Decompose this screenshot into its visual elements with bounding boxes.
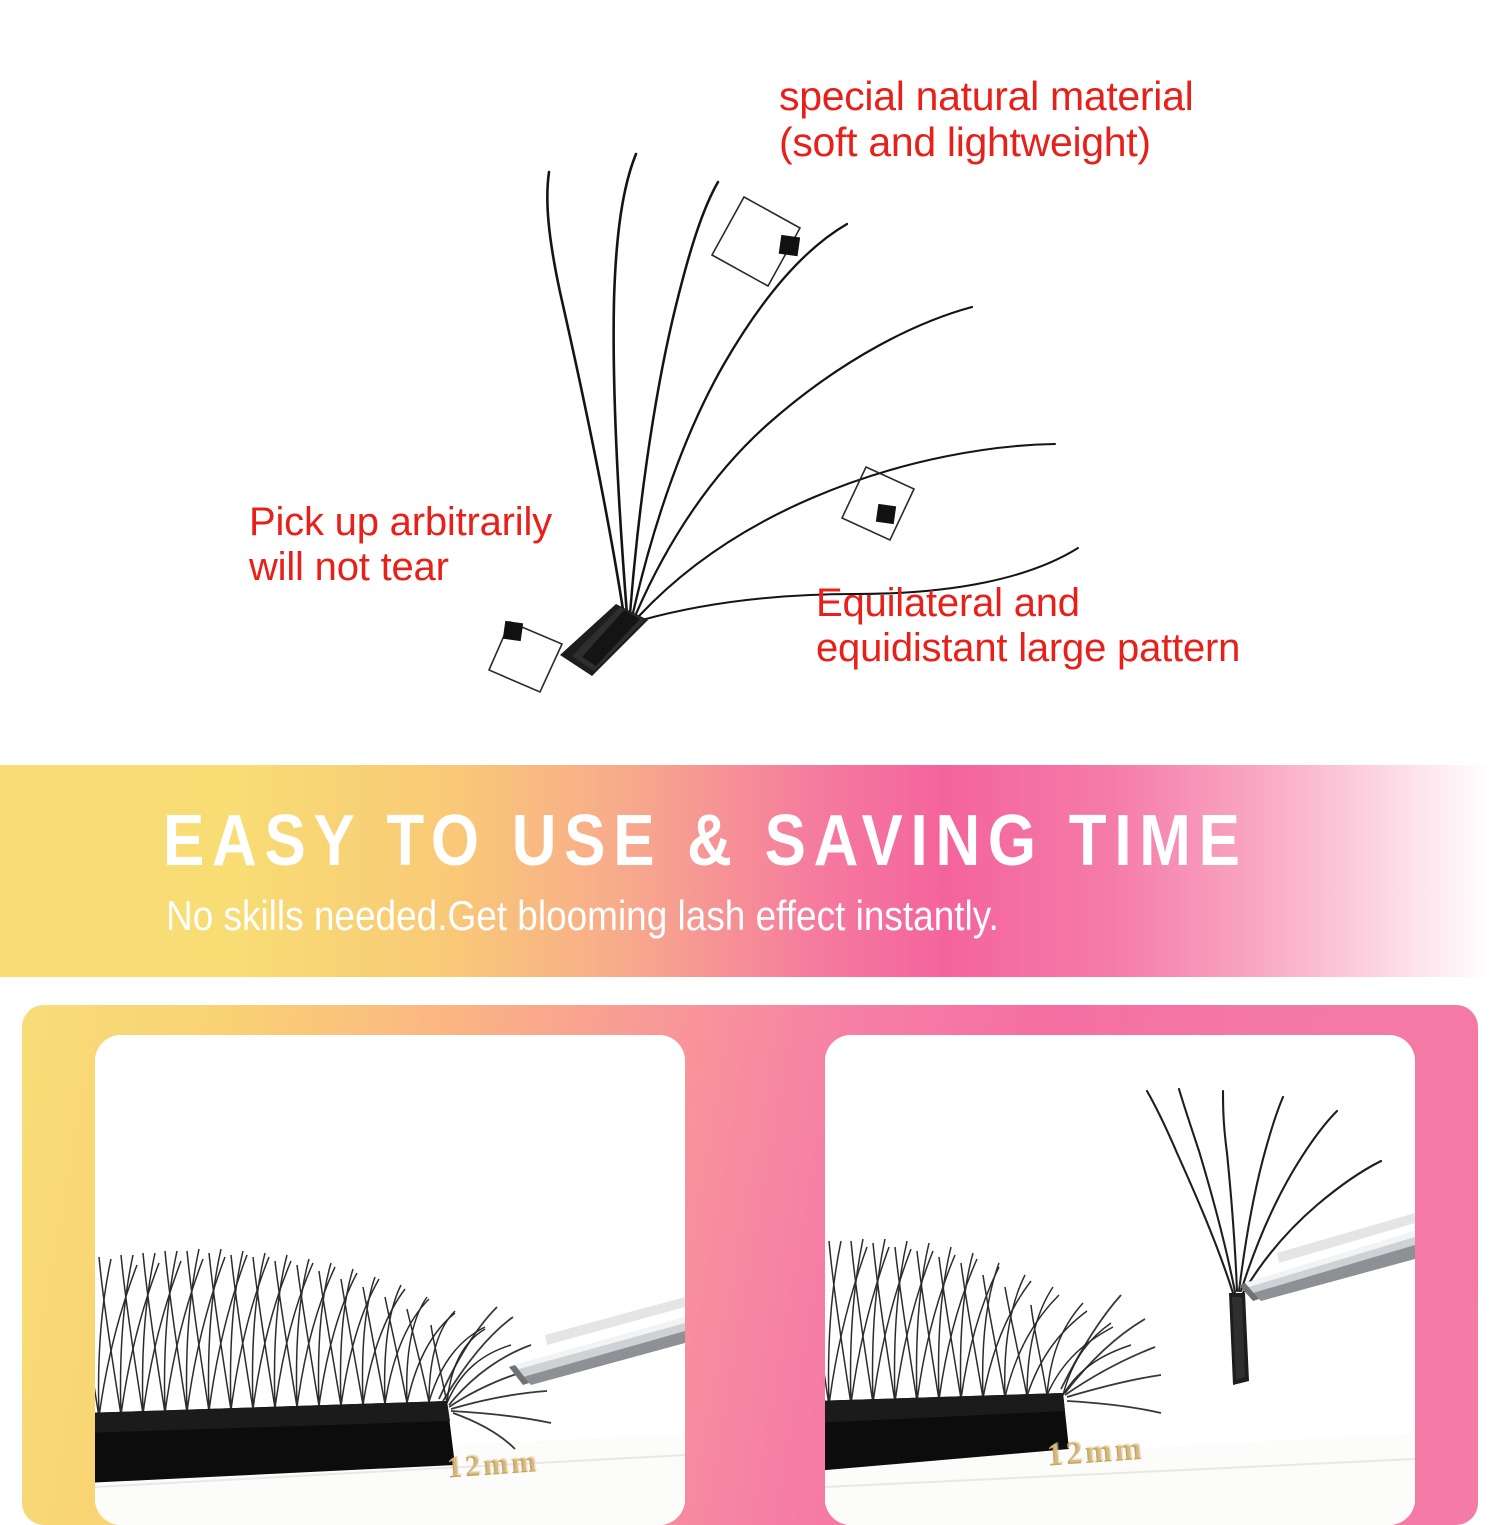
callout-pick-up-arbitrarily: Pick up arbitrarily will not tear — [249, 500, 552, 590]
gallery-card-lash-tray[interactable]: 12mm 12mm — [95, 1035, 685, 1525]
banner-subheadline: No skills needed.Get blooming lash effec… — [166, 895, 999, 937]
svg-text:12mm: 12mm — [447, 1444, 541, 1483]
size-label-print: 12mm 12mm — [446, 1444, 542, 1485]
hero-section: special natural material (soft and light… — [0, 0, 1500, 765]
easy-to-use-banner: EASY TO USE & SAVING TIME No skills need… — [0, 765, 1500, 977]
banner-text-group: EASY TO USE & SAVING TIME No skills need… — [163, 765, 1413, 977]
gallery-card-lash-fan-pickup[interactable]: 12mm 12mm — [825, 1035, 1415, 1525]
product-feature-page: special natural material (soft and light… — [0, 0, 1500, 1500]
callout-marker-base — [489, 621, 562, 692]
lash-fan-base — [560, 604, 648, 676]
callout-marker-middle — [842, 467, 914, 540]
lash-strands — [547, 154, 1078, 620]
callout-equilateral-equidistant: Equilateral and equidistant large patter… — [816, 581, 1240, 671]
banner-headline: EASY TO USE & SAVING TIME — [163, 805, 1248, 877]
callout-special-natural-material: special natural material (soft and light… — [779, 74, 1193, 166]
svg-text:12mm: 12mm — [1047, 1428, 1147, 1471]
photo-lash-tray-with-tweezers: 12mm 12mm — [95, 1035, 685, 1525]
gallery-panel: 12mm 12mm — [22, 1005, 1478, 1525]
photo-lash-fan-picked-up: 12mm 12mm — [825, 1035, 1415, 1525]
size-label-print: 12mm 12mm — [1046, 1428, 1147, 1472]
callout-marker-top — [712, 197, 800, 286]
lash-fan-illustration — [0, 0, 1500, 765]
